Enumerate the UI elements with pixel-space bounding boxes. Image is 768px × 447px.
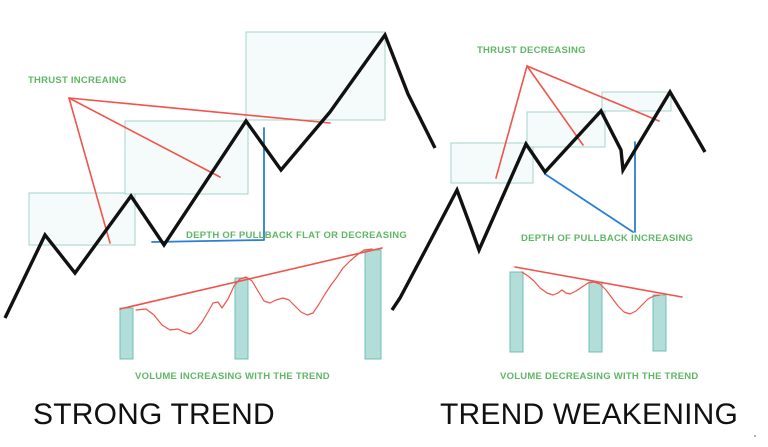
diagram-canvas: THRUST INCREAINGDEPTH OF PULLBACK FLAT O… <box>0 0 768 447</box>
pullback-label: DEPTH OF PULLBACK FLAT OR DECREASING <box>186 230 407 241</box>
panel-trend-weakening: THRUST DECREASINGDEPTH OF PULLBACK INCRE… <box>392 45 756 437</box>
pullback-label: DEPTH OF PULLBACK INCREASING <box>521 233 693 244</box>
trading-trend-diagram: THRUST INCREAINGDEPTH OF PULLBACK FLAT O… <box>0 0 768 447</box>
volume-bar-1 <box>510 272 523 352</box>
volume-bar-2 <box>589 282 602 352</box>
volume-bar-1 <box>120 308 133 359</box>
volume-curve <box>136 249 372 334</box>
swing-box-2 <box>125 121 248 194</box>
volume-bar-2 <box>235 278 248 359</box>
swing-box-3 <box>246 32 385 120</box>
thrust-label: THRUST INCREAING <box>28 75 126 86</box>
volume-label: VOLUME DECREASING WITH THE TREND <box>500 371 699 382</box>
panel-title-strong-trend: STRONG TREND <box>33 398 275 431</box>
panel-title-trend-weakening: TREND WEAKENING <box>440 398 738 431</box>
volume-bar-3 <box>653 295 666 351</box>
volume-trend-line <box>120 248 382 309</box>
volume-bar-3 <box>365 250 381 359</box>
stray-dot <box>754 435 756 437</box>
thrust-label: THRUST DECREASING <box>477 45 586 56</box>
panel-strong-trend: THRUST INCREAINGDEPTH OF PULLBACK FLAT O… <box>5 32 435 431</box>
swing-box-1 <box>451 143 533 183</box>
volume-label: VOLUME INCREASING WITH THE TREND <box>135 371 330 382</box>
